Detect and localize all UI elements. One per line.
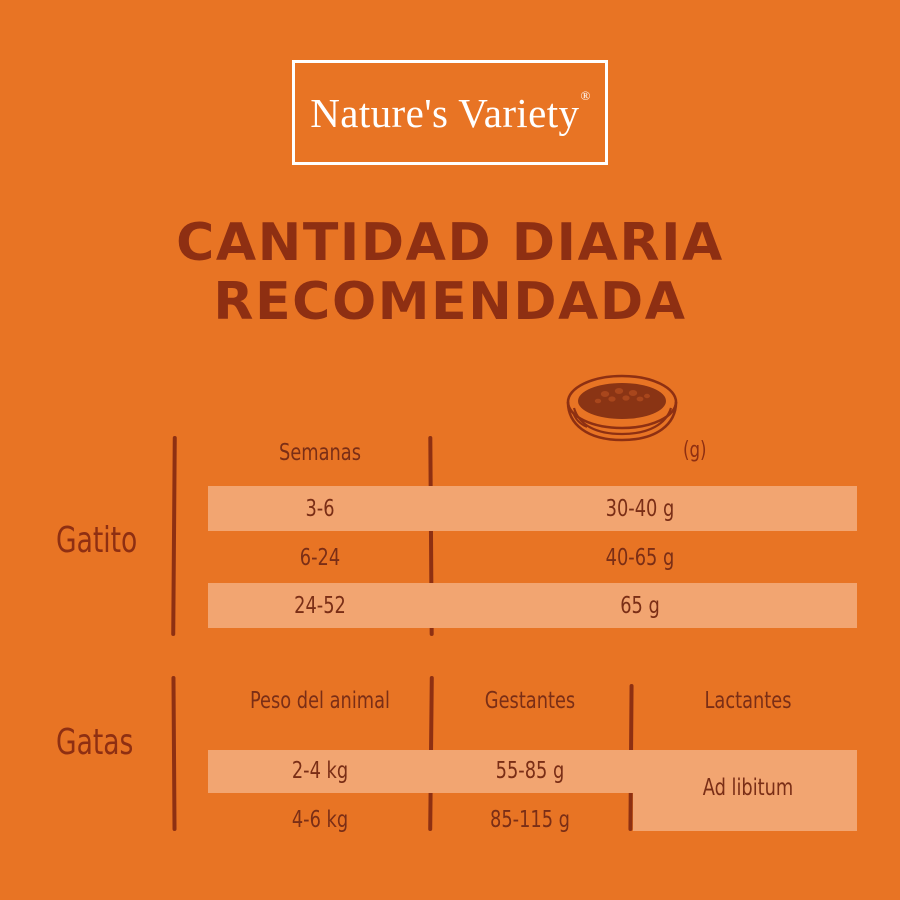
brand-name: Nature's Variety <box>310 90 579 136</box>
page-title-line-2: RECOMENDADA <box>0 273 900 332</box>
table1-divider-left <box>171 436 177 636</box>
table1-header-col1: Semanas <box>234 440 406 466</box>
brand-logo-box: Nature's Variety® <box>292 60 608 165</box>
page-title: CANTIDAD DIARIA RECOMENDADA <box>0 214 900 333</box>
registered-mark: ® <box>580 88 590 103</box>
row-label-gatas: Gatas <box>56 722 133 763</box>
table2-cell-r2c1: 4-6 kg <box>230 807 411 833</box>
table2-cell-r2c2: 85-115 g <box>448 807 611 833</box>
table1-cell-r2c1: 6-24 <box>234 545 406 571</box>
table1-cell-r2c2: 40-65 g <box>554 545 726 571</box>
table1-cell-r1c2: 30-40 g <box>554 496 726 522</box>
table1-cell-r3c1: 24-52 <box>234 593 406 619</box>
table2-divider-left <box>171 676 176 831</box>
food-bowl-icon <box>563 372 681 450</box>
table1-cell-r1c1: 3-6 <box>234 496 406 522</box>
table1-cell-r3c2: 65 g <box>554 593 726 619</box>
table2-cell-r1c1: 2-4 kg <box>230 758 411 784</box>
unit-label-grams: (g) <box>683 438 707 463</box>
page-title-line-1: CANTIDAD DIARIA <box>0 214 900 273</box>
table2-header-col2: Gestantes <box>448 688 611 714</box>
table2-cell-r1c2: 55-85 g <box>448 758 611 784</box>
brand-logo-text: Nature's Variety® <box>310 89 589 137</box>
table2-header-col3: Lactantes <box>664 688 833 714</box>
table2-cell-ad-libitum: Ad libitum <box>662 775 834 801</box>
row-label-gatito: Gatito <box>56 520 137 561</box>
table2-header-col1: Peso del animal <box>230 688 411 714</box>
